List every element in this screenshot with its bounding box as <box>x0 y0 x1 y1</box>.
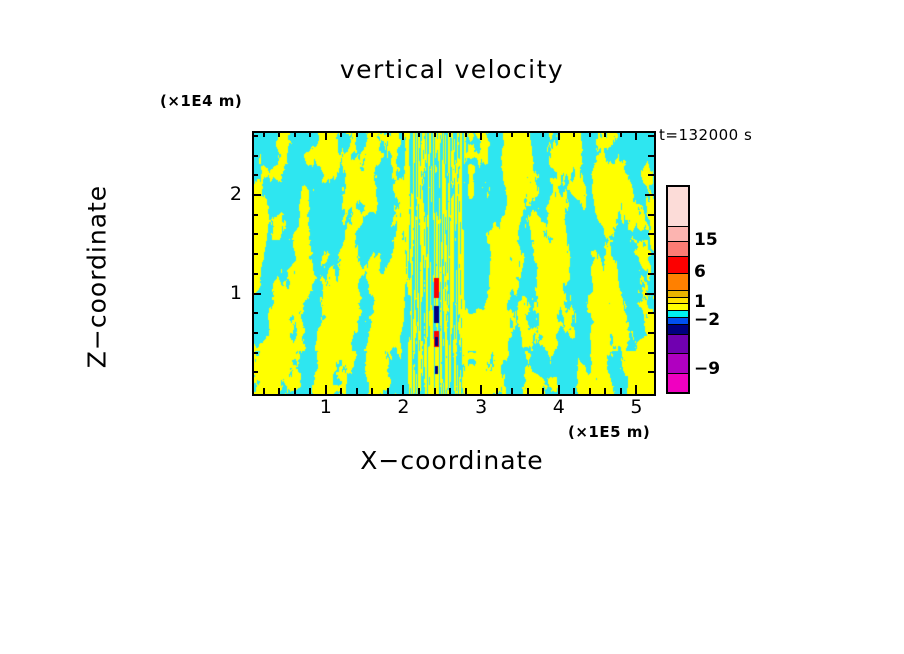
x-tick <box>449 388 451 394</box>
colorbar-band <box>668 187 688 226</box>
x-tick-label: 5 <box>621 396 651 418</box>
x-tick <box>589 388 591 394</box>
colorbar-band <box>668 374 688 392</box>
y-tick <box>252 135 258 137</box>
x-tick-label: 3 <box>466 396 496 418</box>
x-tick <box>496 131 498 137</box>
y-tick <box>648 273 654 275</box>
y-tick <box>252 194 261 196</box>
x-tick <box>309 131 311 137</box>
x-tick <box>573 388 575 394</box>
x-tick <box>294 388 296 394</box>
x-tick <box>434 131 436 137</box>
x-tick <box>278 388 280 394</box>
x-tick <box>263 131 265 137</box>
x-tick <box>480 385 482 394</box>
colorbar-band <box>668 335 688 353</box>
x-tick <box>465 131 467 137</box>
x-tick <box>496 388 498 394</box>
y-tick <box>648 332 654 334</box>
x-tick <box>340 388 342 394</box>
x-tick <box>294 131 296 137</box>
x-tick <box>542 388 544 394</box>
time-annotation: t=132000 s <box>659 126 752 144</box>
y-tick <box>252 332 258 334</box>
x-tick <box>325 131 327 140</box>
y-tick <box>252 293 261 295</box>
x-tick <box>604 388 606 394</box>
x-tick-label: 1 <box>311 396 341 418</box>
x-tick <box>527 388 529 394</box>
x-tick <box>309 388 311 394</box>
colorbar <box>666 185 690 394</box>
x-tick <box>480 131 482 140</box>
y-tick-label: 1 <box>212 282 242 304</box>
x-tick <box>558 131 560 140</box>
y-tick <box>252 214 258 216</box>
x-tick-label: 2 <box>388 396 418 418</box>
y-tick <box>648 312 654 314</box>
y-tick <box>648 233 654 235</box>
x-tick <box>263 388 265 394</box>
y-tick <box>252 352 258 354</box>
x-tick <box>511 131 513 137</box>
x-axis-title: X−coordinate <box>252 446 652 475</box>
x-tick <box>278 131 280 137</box>
colorbar-band <box>668 242 688 256</box>
x-tick <box>402 385 404 394</box>
x-tick <box>589 131 591 137</box>
y-axis-title: Z−coordinate <box>83 142 112 412</box>
colorbar-label: 1 <box>694 292 706 312</box>
colorbar-label: 6 <box>694 262 706 282</box>
colorbar-label: −9 <box>694 359 720 379</box>
x-tick <box>356 388 358 394</box>
x-tick <box>620 131 622 137</box>
y-tick <box>252 155 258 157</box>
x-tick <box>511 388 513 394</box>
x-tick <box>449 131 451 137</box>
y-tick <box>648 135 654 137</box>
x-tick <box>371 131 373 137</box>
y-tick <box>252 273 258 275</box>
x-tick <box>371 388 373 394</box>
y-tick <box>252 371 258 373</box>
y-tick <box>648 371 654 373</box>
contour-field <box>254 133 654 394</box>
y-tick <box>648 174 654 176</box>
x-tick <box>558 385 560 394</box>
x-tick <box>542 131 544 137</box>
x-tick <box>356 131 358 137</box>
x-tick <box>340 131 342 137</box>
y-tick <box>648 155 654 157</box>
colorbar-label: 15 <box>694 230 718 250</box>
colorbar-band <box>668 354 688 372</box>
x-tick <box>620 388 622 394</box>
colorbar-band <box>668 227 688 241</box>
x-tick <box>635 131 637 140</box>
chart-title: vertical velocity <box>252 55 652 84</box>
y-tick <box>648 253 654 255</box>
y-tick <box>252 233 258 235</box>
y-tick <box>645 293 654 295</box>
x-tick <box>325 385 327 394</box>
y-tick <box>252 253 258 255</box>
plot-area <box>252 131 656 396</box>
y-tick <box>648 214 654 216</box>
x-axis-unit-label: (×1E5 m) <box>568 423 650 441</box>
x-tick <box>418 131 420 137</box>
y-tick <box>645 194 654 196</box>
x-tick <box>465 388 467 394</box>
x-tick <box>402 131 404 140</box>
figure-canvas: vertical velocity (×1E4 m) (×1E5 m) Z−co… <box>0 0 904 654</box>
y-axis-unit-label: (×1E4 m) <box>160 92 242 110</box>
x-tick <box>387 388 389 394</box>
x-tick <box>604 131 606 137</box>
x-tick <box>418 388 420 394</box>
x-tick <box>635 385 637 394</box>
colorbar-band <box>668 274 688 290</box>
x-tick <box>434 388 436 394</box>
colorbar-band <box>668 257 688 273</box>
y-tick <box>648 352 654 354</box>
colorbar-band <box>668 325 688 334</box>
colorbar-label: −2 <box>694 310 720 330</box>
x-tick <box>527 131 529 137</box>
x-tick <box>573 131 575 137</box>
x-tick-label: 4 <box>544 396 574 418</box>
x-tick <box>387 131 389 137</box>
y-tick <box>252 312 258 314</box>
y-tick <box>252 174 258 176</box>
y-tick-label: 2 <box>212 183 242 205</box>
